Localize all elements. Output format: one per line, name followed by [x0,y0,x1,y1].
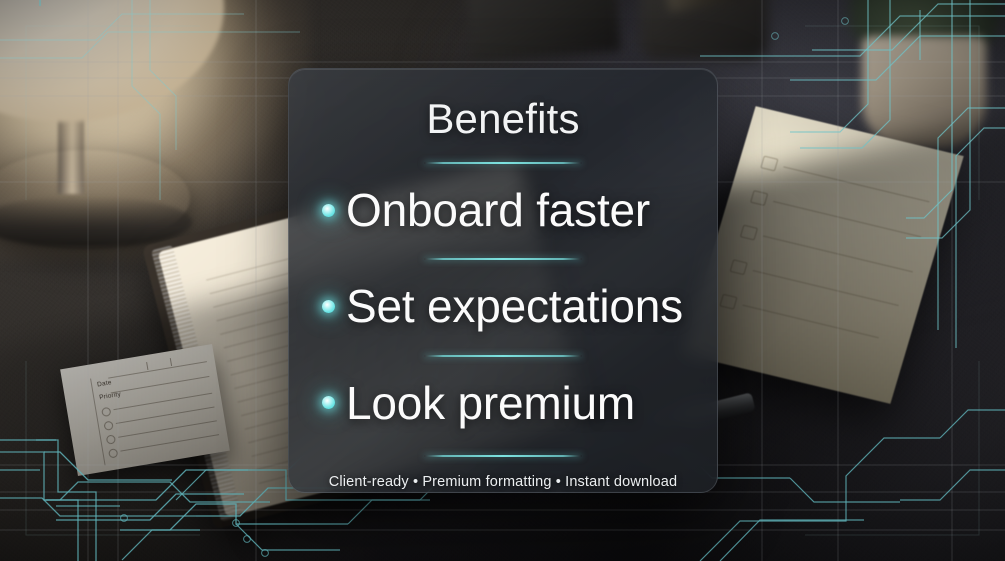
benefits-glass-panel: Benefits Onboard faster Set expectations [288,68,718,493]
benefit-label: Set expectations [346,282,683,330]
bullet-divider-3 [424,455,582,457]
benefits-list: Onboard faster [289,164,717,234]
list-item: Set expectations [289,282,717,330]
panel-footer-text: Client-ready • Premium formatting • Inst… [329,474,677,490]
page-title: Benefits [426,98,579,140]
bullet-dot-icon [322,204,335,217]
benefit-label: Onboard faster [346,186,650,234]
screenshot-canvas: Date Priority [0,0,1005,561]
bullet-dot-icon [322,396,335,409]
benefits-list: Look premium [289,357,717,427]
bullet-dot-icon [322,300,335,313]
list-item: Onboard faster [289,186,717,234]
benefit-label: Look premium [346,379,635,427]
benefits-list: Set expectations [289,260,717,330]
list-item: Look premium [289,379,717,427]
